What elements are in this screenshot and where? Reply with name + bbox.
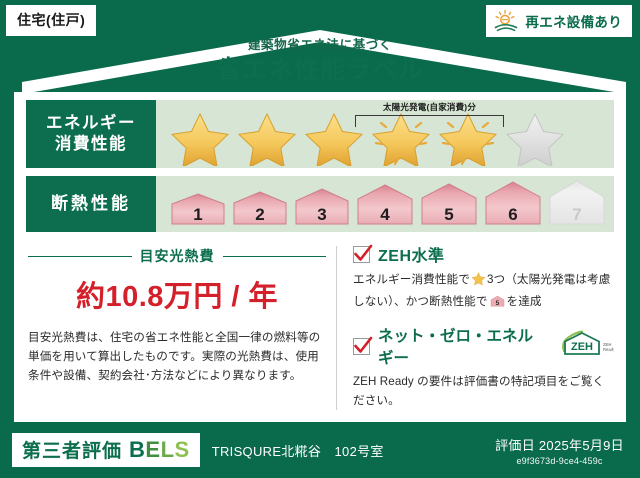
energy-cost-column: 目安光熱費 約10.8万円 / 年 目安光熱費は、住宅の省エネ性能と全国一律の燃… bbox=[26, 242, 326, 418]
zeh-standard-body: エネルギー消費性能で3つ（太陽光発電は考慮しない）、かつ断熱性能で5を達成 bbox=[353, 270, 614, 314]
renewable-label: 再エネ設備あり bbox=[525, 11, 622, 31]
zeh-column: ZEH水準 エネルギー消費性能で3つ（太陽光発電は考慮しない）、かつ断熱性能で5… bbox=[351, 242, 614, 418]
energy-performance-label: エネルギー 消費性能 bbox=[26, 100, 156, 168]
energy-cost-value: 約10.8万円 / 年 bbox=[28, 273, 326, 315]
lower-section: 目安光熱費 約10.8万円 / 年 目安光熱費は、住宅の省エネ性能と全国一律の燃… bbox=[26, 242, 614, 418]
bels-logo: BELS bbox=[129, 437, 190, 463]
inline-insulation-badge: 5 bbox=[490, 294, 505, 314]
insulation-house-5: 5 bbox=[418, 180, 480, 231]
zeh-body-part1: エネルギー消費性能で bbox=[353, 273, 470, 286]
evaluation-info: 評価日 2025年5月9日 e9f3673d-9ce4-459c bbox=[495, 435, 624, 466]
insulation-house-4: 4 bbox=[354, 181, 416, 231]
star-filled-3 bbox=[302, 110, 366, 166]
cost-rule-left bbox=[28, 256, 132, 257]
energy-performance-label-line1: エネルギー bbox=[46, 113, 136, 134]
insulation-house-7: 7 bbox=[546, 178, 608, 231]
net-zero-energy-item: ネット・ゼロ・エネルギー ZEH ZEH Ready ZEH Ready の要件… bbox=[353, 324, 614, 410]
zeh-standard-head: ZEH水準 bbox=[353, 242, 614, 266]
zeh-standard-item: ZEH水準 エネルギー消費性能で3つ（太陽光発電は考慮しない）、かつ断熱性能で5… bbox=[353, 242, 614, 314]
insulation-house-2: 2 bbox=[230, 186, 290, 231]
insulation-levels-area: 1 2 3 bbox=[156, 176, 614, 232]
header-title-block: 建築物省エネ法に基づく 省エネ性能ラベル bbox=[0, 38, 640, 85]
evaluation-id: e9f3673d-9ce4-459c bbox=[495, 456, 624, 466]
housing-type-label: 住宅(住戸) bbox=[17, 12, 85, 28]
energy-cost-heading-text: 目安光熱費 bbox=[140, 246, 215, 266]
housing-type-badge: 住宅(住戸) bbox=[6, 5, 96, 36]
third-party-label: 第三者評価 bbox=[22, 436, 122, 463]
renewable-equipment-badge: 再エネ設備あり bbox=[486, 5, 632, 37]
bels-badge: 第三者評価 BELS bbox=[12, 433, 200, 467]
net-zero-title: ネット・ゼロ・エネルギー bbox=[378, 324, 546, 368]
insulation-rating: 1 2 3 bbox=[156, 178, 608, 231]
insulation-house-1-number: 1 bbox=[168, 205, 228, 225]
star-rating bbox=[156, 102, 567, 166]
svg-text:Ready: Ready bbox=[603, 347, 614, 352]
star-filled-solar-4 bbox=[369, 110, 433, 166]
zeh-standard-title: ZEH水準 bbox=[378, 242, 445, 266]
svg-text:5: 5 bbox=[495, 300, 499, 307]
sun-icon bbox=[493, 9, 519, 33]
insulation-performance-row: 断熱性能 bbox=[26, 176, 614, 232]
energy-cost-heading: 目安光熱費 bbox=[28, 246, 326, 266]
header-subtitle: 建築物省エネ法に基づく bbox=[0, 38, 640, 53]
net-zero-head: ネット・ゼロ・エネルギー ZEH ZEH Ready bbox=[353, 324, 614, 368]
star-empty-6 bbox=[503, 110, 567, 166]
energy-performance-stars-area: 太陽光発電(自家消費)分 bbox=[156, 100, 614, 168]
energy-cost-note: 目安光熱費は、住宅の省エネ性能と全国一律の燃料等の単価を用いて算出したものです。… bbox=[28, 329, 326, 385]
insulation-house-2-number: 2 bbox=[230, 205, 290, 225]
evaluation-date: 評価日 2025年5月9日 bbox=[495, 435, 624, 454]
page-title: 省エネ性能ラベル bbox=[0, 55, 640, 85]
star-filled-solar-5 bbox=[436, 110, 500, 166]
footer: 第三者評価 BELS TRISQURE北糀谷 102号室 評価日 2025年5月… bbox=[0, 422, 640, 478]
net-zero-body: ZEH Ready の要件は評価書の特記項目をご覧ください。 bbox=[353, 372, 614, 410]
insulation-house-1: 1 bbox=[168, 188, 228, 231]
inline-star-icon bbox=[471, 271, 486, 292]
insulation-performance-label: 断熱性能 bbox=[26, 176, 156, 232]
insulation-house-6: 6 bbox=[482, 179, 544, 231]
property-name: TRISQURE北糀谷 102号室 bbox=[212, 441, 384, 460]
net-zero-checkbox bbox=[353, 338, 370, 355]
svg-text:ZEH: ZEH bbox=[571, 341, 593, 353]
insulation-house-5-number: 5 bbox=[418, 205, 480, 225]
insulation-house-6-number: 6 bbox=[482, 205, 544, 225]
insulation-house-3: 3 bbox=[292, 184, 352, 231]
energy-label-root: 住宅(住戸) 再エネ設備あり 建築物省エネ法に基づく 省エネ性能ラベル bbox=[0, 0, 640, 478]
insulation-house-4-number: 4 bbox=[354, 205, 416, 225]
zeh-body-part3: を達成 bbox=[507, 295, 542, 308]
star-filled-1 bbox=[168, 110, 232, 166]
energy-performance-row: エネルギー 消費性能 bbox=[26, 100, 614, 168]
column-divider bbox=[336, 246, 337, 410]
zeh-logo-icon: ZEH ZEH Ready bbox=[558, 329, 614, 364]
label-card: エネルギー 消費性能 bbox=[14, 92, 626, 422]
cost-rule-right bbox=[223, 256, 327, 257]
star-filled-2 bbox=[235, 110, 299, 166]
insulation-house-3-number: 3 bbox=[292, 205, 352, 225]
zeh-standard-checkbox bbox=[353, 246, 370, 263]
energy-performance-label-line2: 消費性能 bbox=[55, 134, 127, 155]
insulation-house-7-number: 7 bbox=[546, 205, 608, 225]
